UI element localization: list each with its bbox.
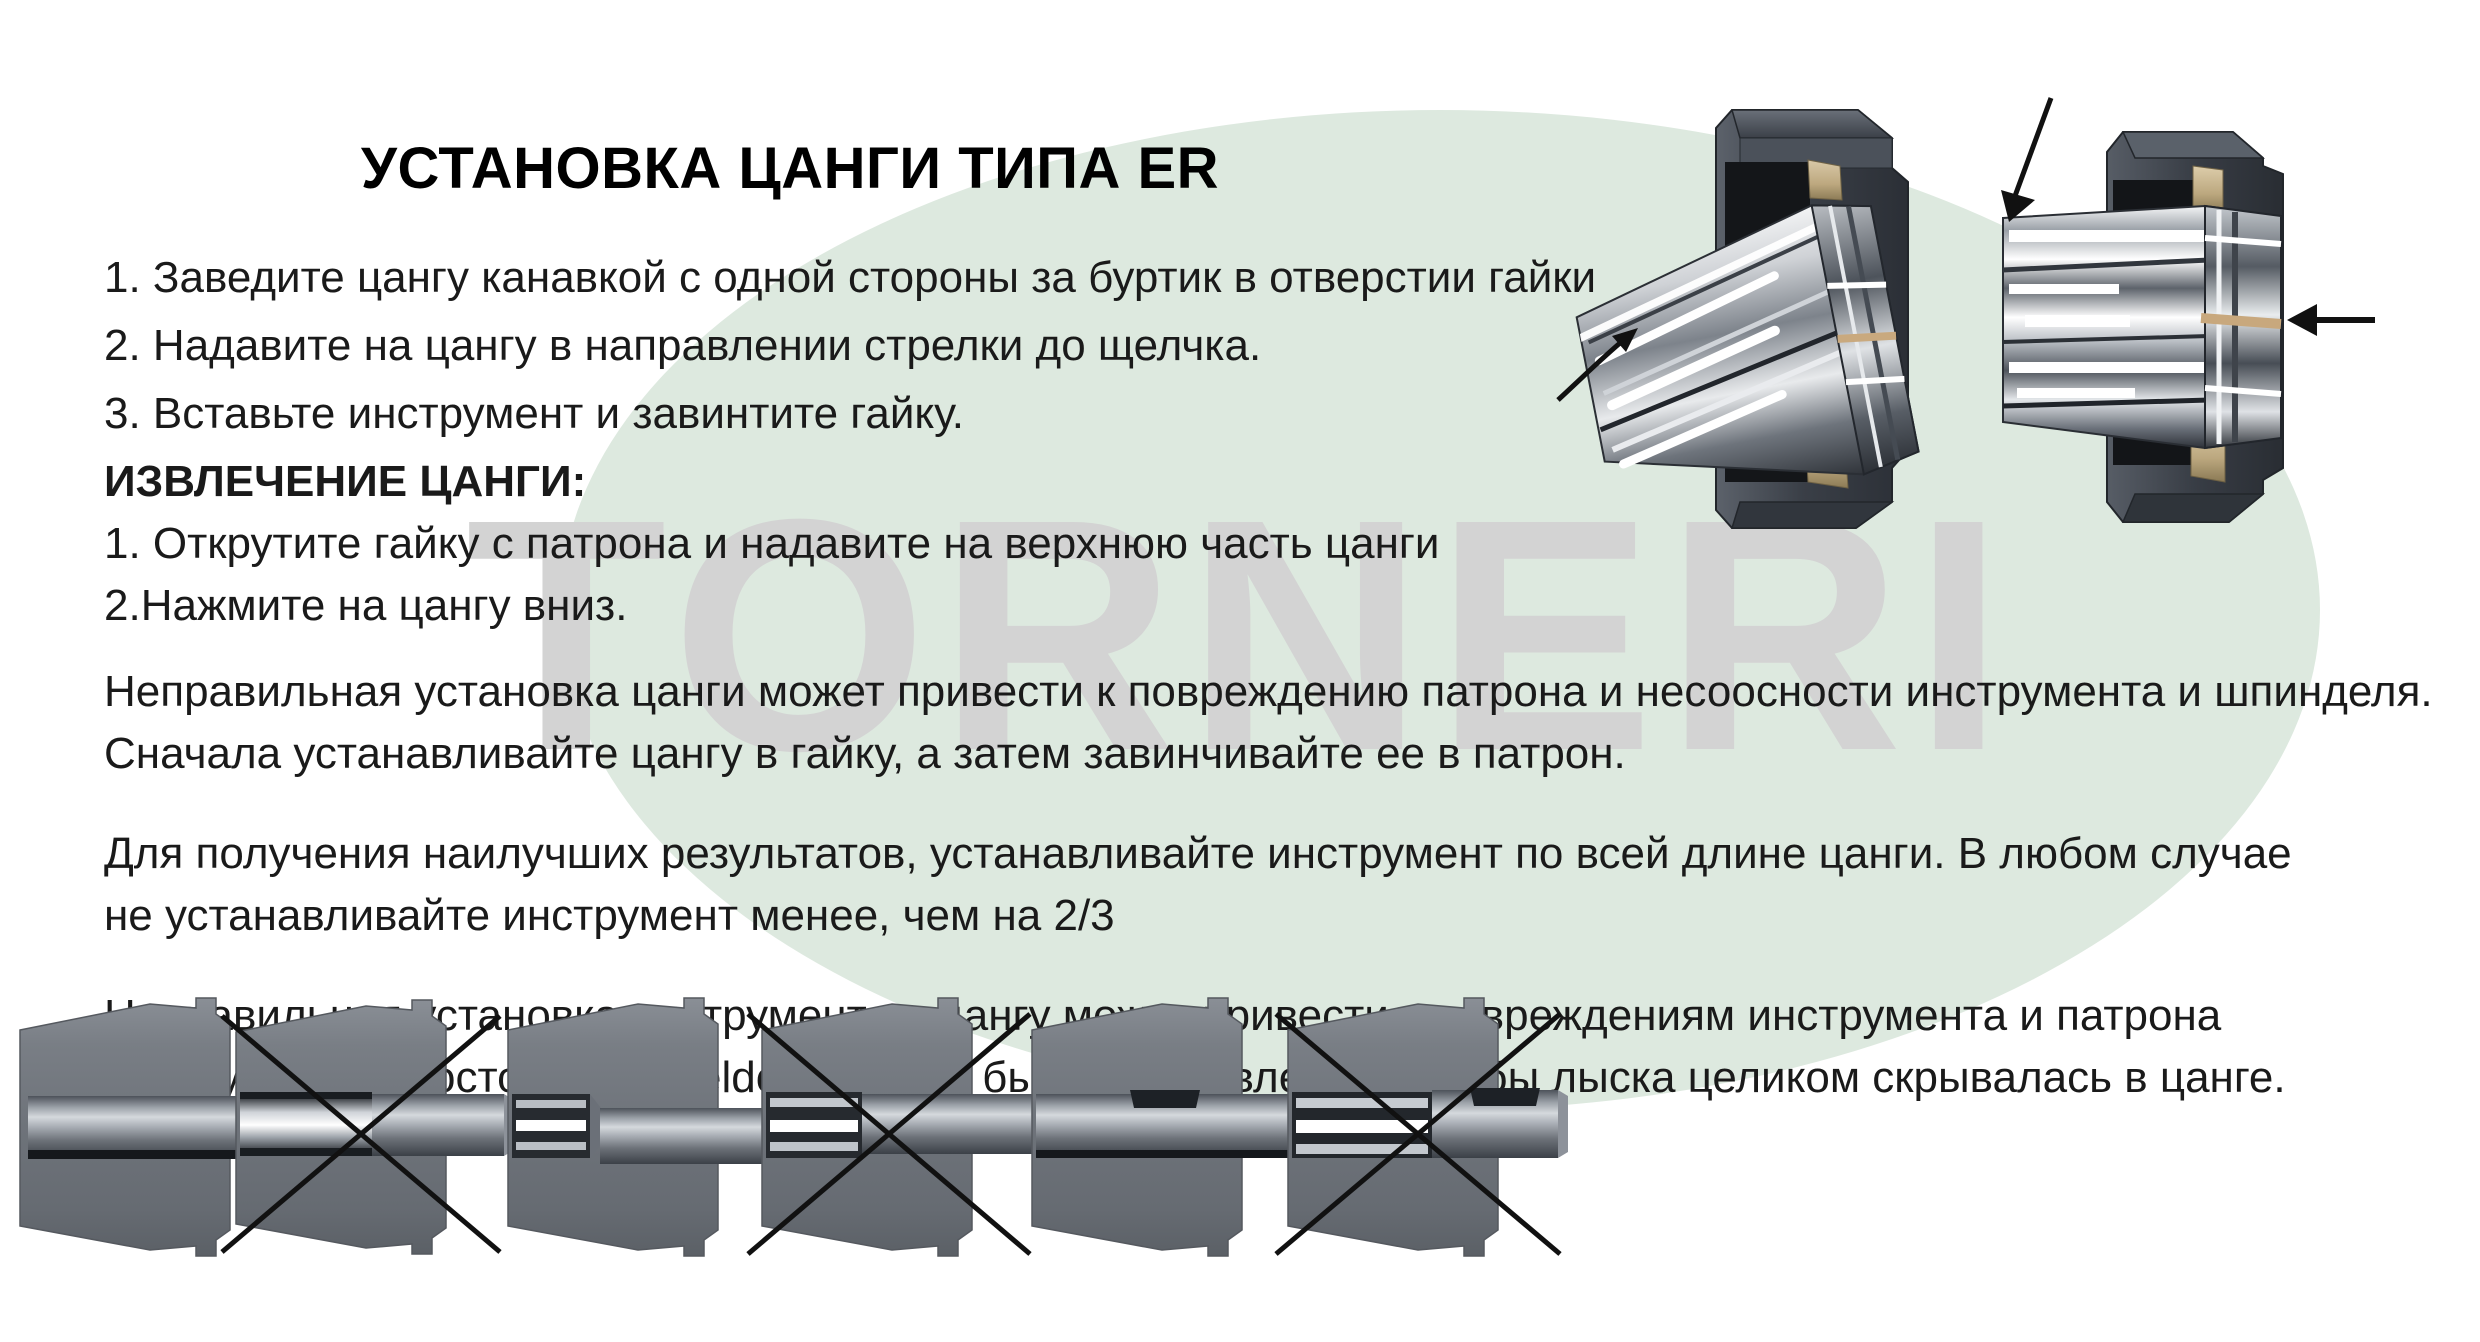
- collet-tilted-svg: [1540, 70, 2060, 570]
- spacer: [104, 788, 2414, 826]
- diagram-collet-tilted-into-nut: [1540, 70, 2060, 570]
- example-weldon-flat-exposed-wrong: [1276, 998, 1568, 1256]
- example-tool-tip-only-wrong: [748, 998, 1052, 1256]
- removal-step-2: 2.Нажмите на цангу вниз.: [104, 578, 2414, 634]
- diagram-collet-seated-in-nut: [1995, 70, 2480, 570]
- collet-seated-svg: [1995, 70, 2480, 570]
- example-tool-short-insert-wrong: [222, 1000, 514, 1254]
- spacer: [104, 646, 2414, 664]
- infographic-page: TORNERI: [0, 0, 2480, 1342]
- warning-collet-install-line-2: Сначала устанавливайте цангу в гайку, а …: [104, 726, 2414, 782]
- push-direction-arrow-diagonal: [2001, 98, 2051, 222]
- bottom-diagram-row: [0, 990, 2480, 1330]
- example-weldon-flat-hidden-correct: [1032, 998, 1310, 1256]
- warning-tool-depth-line-1: Для получения наилучших результатов, уст…: [104, 826, 2414, 882]
- spacer: [104, 950, 2414, 988]
- warning-tool-depth-line-2: не устанавливайте инструмент менее, чем …: [104, 888, 2414, 944]
- example-tool-two-thirds-correct: [508, 998, 778, 1256]
- tool-insertion-examples-svg: [0, 990, 2480, 1330]
- warning-collet-install-line-1: Неправильная установка цанги может приве…: [104, 664, 2414, 720]
- push-direction-arrow-horizontal: [2287, 304, 2375, 336]
